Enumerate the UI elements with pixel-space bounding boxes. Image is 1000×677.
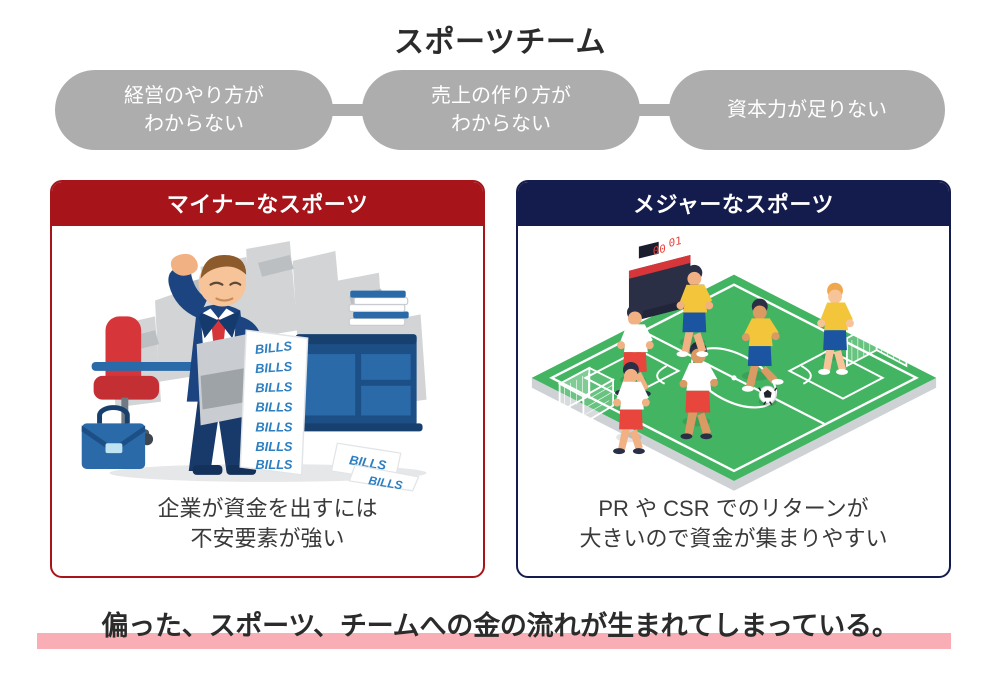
illustration-soccer-field: 00 01 bbox=[518, 226, 949, 494]
pill-connector-2 bbox=[638, 104, 671, 116]
problem-pill-label: 売上の作り方が わからない bbox=[431, 82, 571, 139]
card-header-major-sports: メジャーなスポーツ bbox=[516, 180, 951, 226]
card-minor-sports[interactable]: マイナーなスポーツ bbox=[50, 180, 485, 578]
bill-text: BILLS bbox=[255, 359, 294, 377]
bill-text: BILLS bbox=[255, 439, 293, 454]
problem-pill-capital[interactable]: 資本力が足りない bbox=[669, 70, 945, 150]
bill-text: BILLS bbox=[255, 419, 293, 434]
scoreboard-away-score: 01 bbox=[669, 234, 682, 250]
pill-connector-1 bbox=[331, 104, 364, 116]
conclusion-banner: 偏った、スポーツ、チームへの金の流れが生まれてしまっている。 bbox=[0, 600, 1000, 656]
problem-pill-label: 資本力が足りない bbox=[727, 96, 887, 124]
page-title: スポーツチーム bbox=[0, 17, 1000, 61]
illustration-stressed-businessman: BILLS BILLS BILLS BILLS BILLS BILLS BILL… bbox=[52, 226, 483, 494]
card-header-minor-sports: マイナーなスポーツ bbox=[50, 180, 485, 226]
problem-pill-sales[interactable]: 売上の作り方が わからない bbox=[362, 70, 640, 150]
bill-text: BILLS bbox=[255, 379, 293, 395]
problem-pill-row: 経営のやり方が わからない 売上の作り方が わからない 資本力が足りない bbox=[55, 70, 945, 150]
card-major-sports[interactable]: メジャーなスポーツ bbox=[516, 180, 951, 578]
card-caption-minor-sports: 企業が資金を出すには 不安要素が強い bbox=[52, 494, 483, 555]
bill-text: BILLS bbox=[255, 457, 293, 472]
card-caption-major-sports: PR や CSR でのリターンが 大きいので資金が集まりやすい bbox=[518, 494, 949, 555]
bill-text: BILLS bbox=[255, 400, 293, 415]
problem-pill-management[interactable]: 経営のやり方が わからない bbox=[55, 70, 333, 150]
problem-pill-label: 経営のやり方が わからない bbox=[124, 82, 264, 139]
conclusion-text: 偏った、スポーツ、チームへの金の流れが生まれてしまっている。 bbox=[0, 604, 1000, 643]
scoreboard-home-score: 00 bbox=[653, 242, 666, 258]
